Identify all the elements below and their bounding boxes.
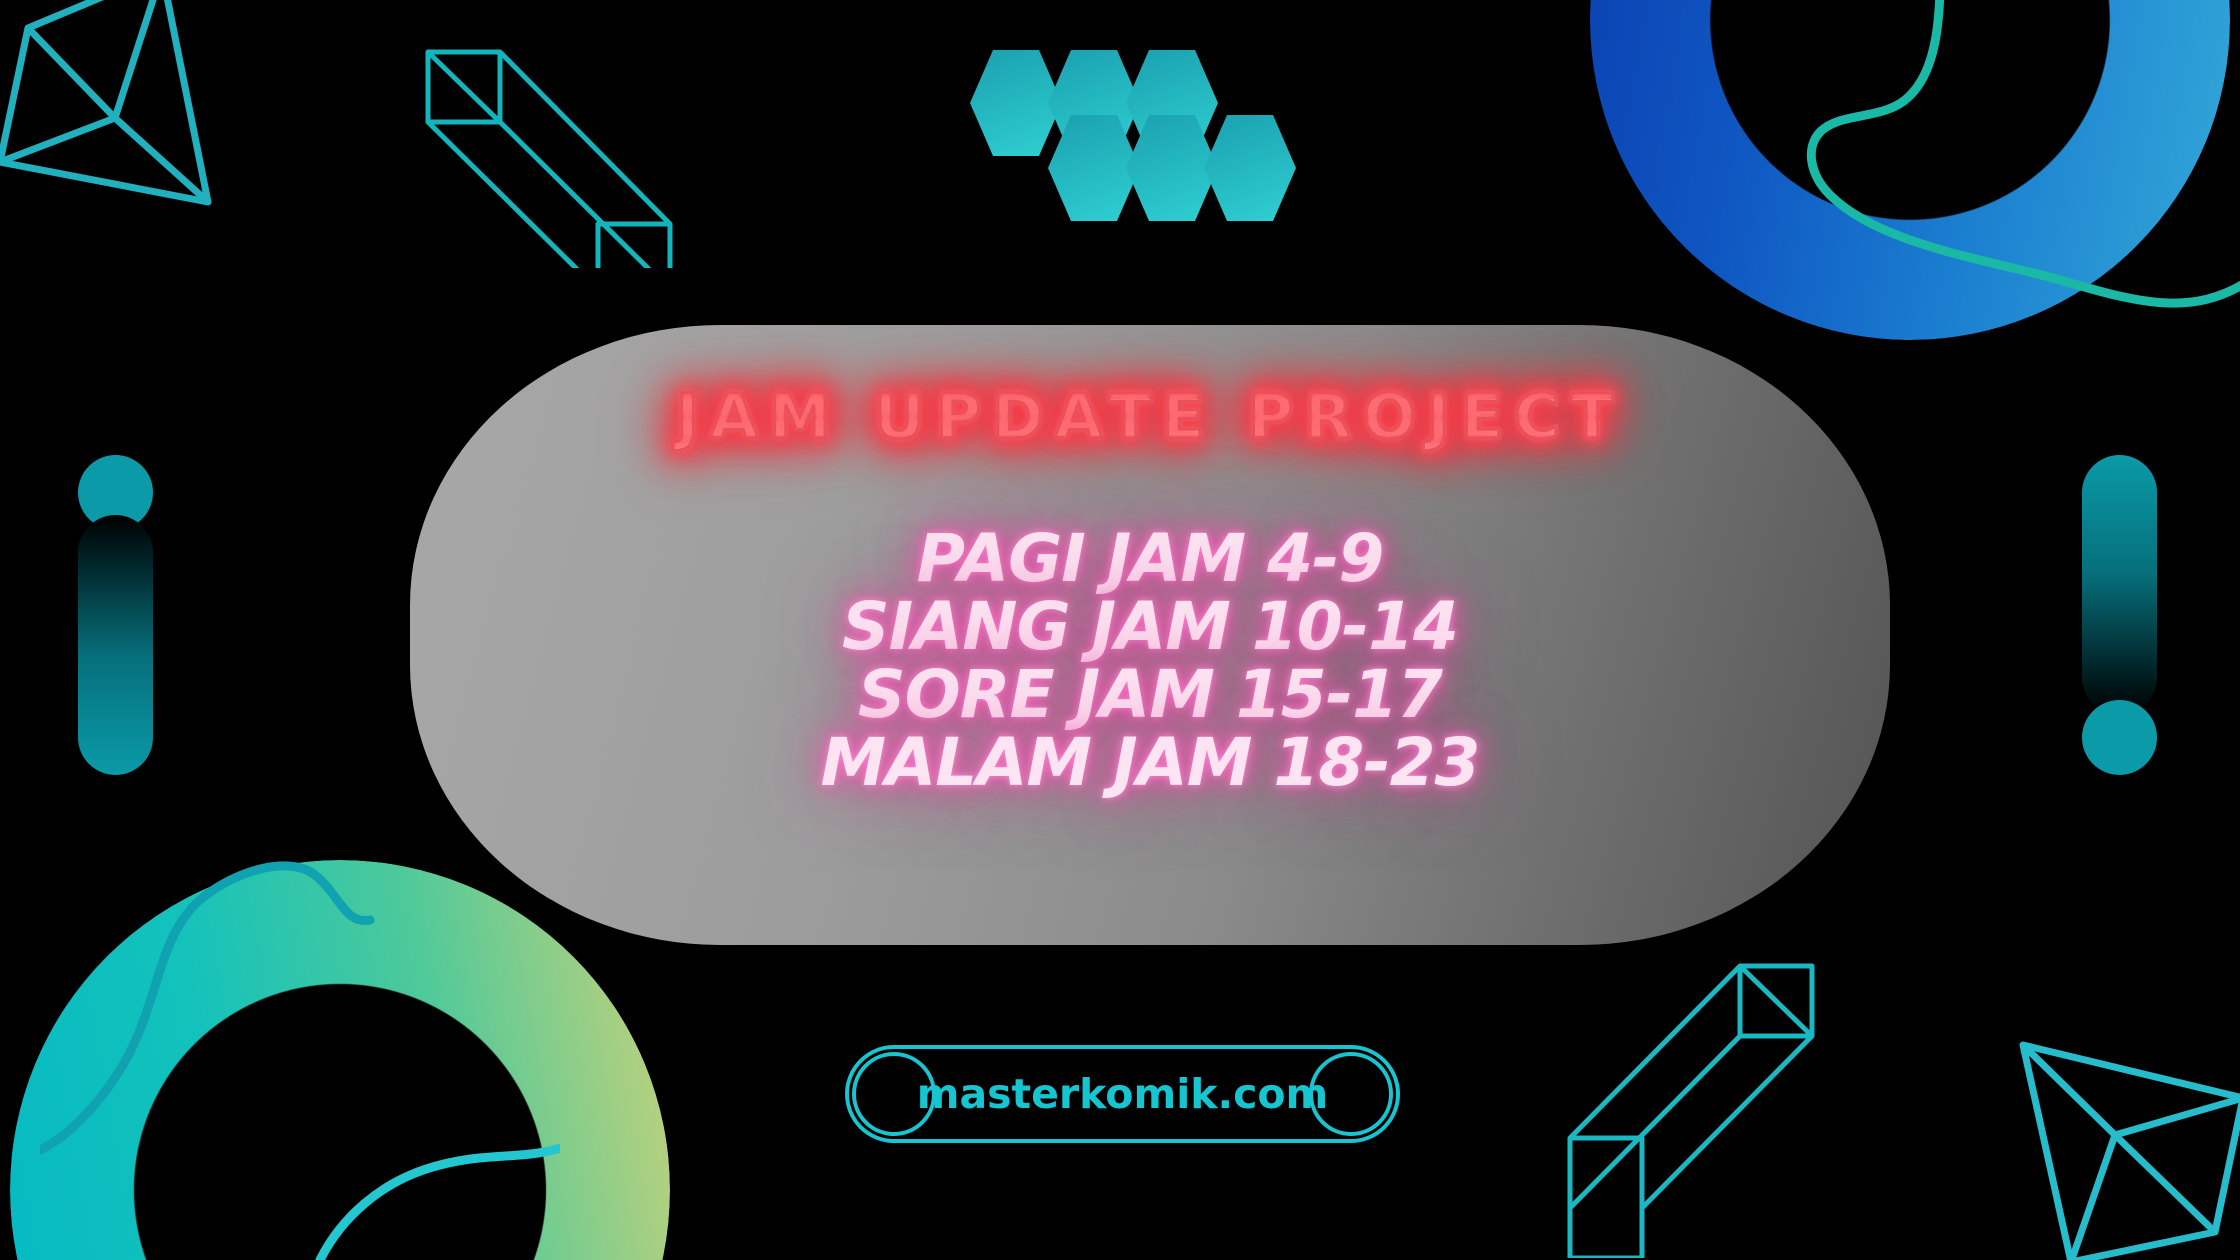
poster-canvas: JAM UPDATE PROJECT PAGI JAM 4-9 SIANG JA… <box>0 0 2240 1260</box>
exclamation-mark-icon-left-bar <box>78 515 153 775</box>
page-title: JAM UPDATE PROJECT <box>676 380 1624 453</box>
schedule-item-pagi: PAGI JAM 4-9 <box>410 525 1890 593</box>
tetrahedron-wireframe-icon-bottom-right <box>1975 1000 2240 1260</box>
hexagon-cluster-icon <box>970 40 1290 210</box>
website-badge[interactable]: masterkomik.com <box>845 1045 1400 1143</box>
bar-wireframe-icon-bottom-right <box>1535 928 1865 1258</box>
schedule-list: PAGI JAM 4-9 SIANG JAM 10-14 SORE JAM 15… <box>410 525 1890 797</box>
ring-icon-bottom-left <box>10 860 670 1260</box>
exclamation-mark-icon-right-bar <box>2082 455 2157 715</box>
ring-icon-top-right <box>1590 0 2230 340</box>
exclamation-mark-icon-right-dot <box>2082 700 2157 775</box>
wave-line-icon-bottom-left <box>40 830 560 1260</box>
schedule-item-sore: SORE JAM 15-17 <box>410 661 1890 729</box>
main-card: JAM UPDATE PROJECT PAGI JAM 4-9 SIANG JA… <box>410 325 1890 945</box>
website-url: masterkomik.com <box>849 1049 1396 1139</box>
page-title-wrap: JAM UPDATE PROJECT <box>410 380 1890 453</box>
tetrahedron-wireframe-icon <box>0 0 250 230</box>
exclamation-mark-icon-left-dot <box>78 455 153 530</box>
wave-line-icon-top-right <box>1690 0 2240 400</box>
schedule-item-siang: SIANG JAM 10-14 <box>410 593 1890 661</box>
bar-wireframe-icon <box>400 38 710 268</box>
schedule-item-malam: MALAM JAM 18-23 <box>410 729 1890 797</box>
